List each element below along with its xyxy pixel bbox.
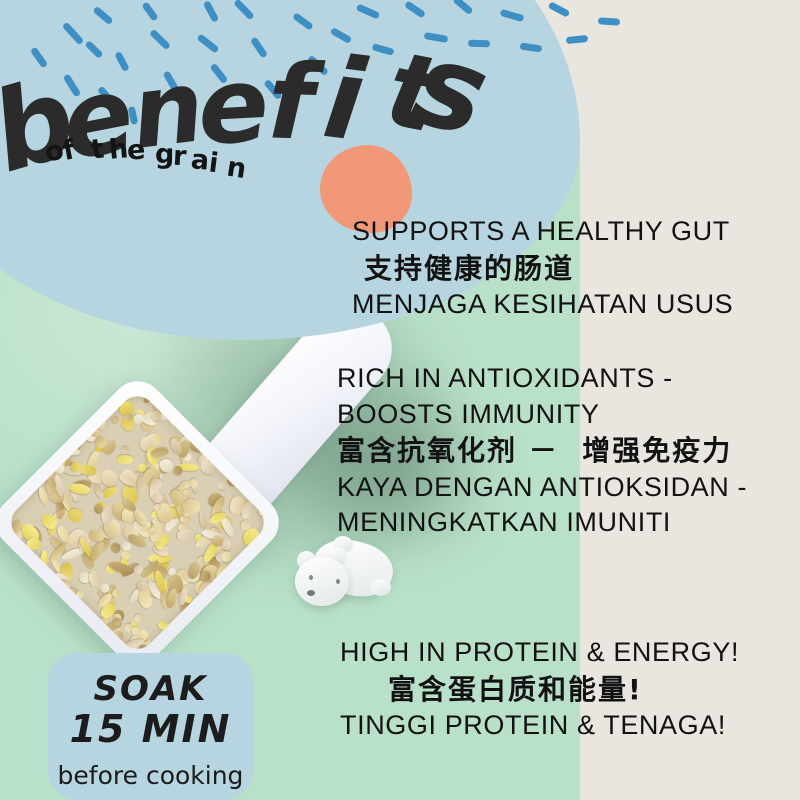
benefit-item-gut: SUPPORTS A HEALTHY GUT 支持健康的肠道 MENJAGA K… [352,214,733,323]
benefit-line-en: HIGH IN PROTEIN & ENERGY! [340,635,739,671]
benefit-line-en: SUPPORTS A HEALTHY GUT [352,214,733,250]
benefit-line-ms: MENJAGA KESIHATAN USUS [352,287,733,323]
benefit-line-zh: 支持健康的肠道 [364,250,733,288]
soak-badge-line2: 15 MIN [48,707,253,751]
poster-canvas: benefits of the grain SUPPORTS A HEALTHY… [0,0,800,800]
benefit-line-zh: 富含抗氧化剂 － 增强免疫力 [337,432,747,470]
benefit-item-antioxidants: RICH IN ANTIOXIDANTS - BOOSTS IMMUNITY 富… [337,361,747,541]
benefit-line-ms-2: MENINGKATKAN IMUNITI [337,505,747,541]
benefit-line-en-2: BOOSTS IMMUNITY [337,397,747,433]
soak-badge: SOAK 15 MIN before cooking [48,653,253,800]
benefit-line-ms: TINGGI PROTEIN & TENAGA! [340,708,739,744]
benefit-item-protein: HIGH IN PROTEIN & ENERGY! 富含蛋白质和能量! TING… [340,635,739,744]
soak-badge-line3: before cooking [48,761,253,790]
benefit-line-en: RICH IN ANTIOXIDANTS - [337,361,747,397]
benefit-line-zh: 富含蛋白质和能量! [388,671,739,709]
soak-badge-line1: SOAK [48,669,253,709]
benefit-line-ms: KAYA DENGAN ANTIOKSIDAN - [337,470,747,506]
